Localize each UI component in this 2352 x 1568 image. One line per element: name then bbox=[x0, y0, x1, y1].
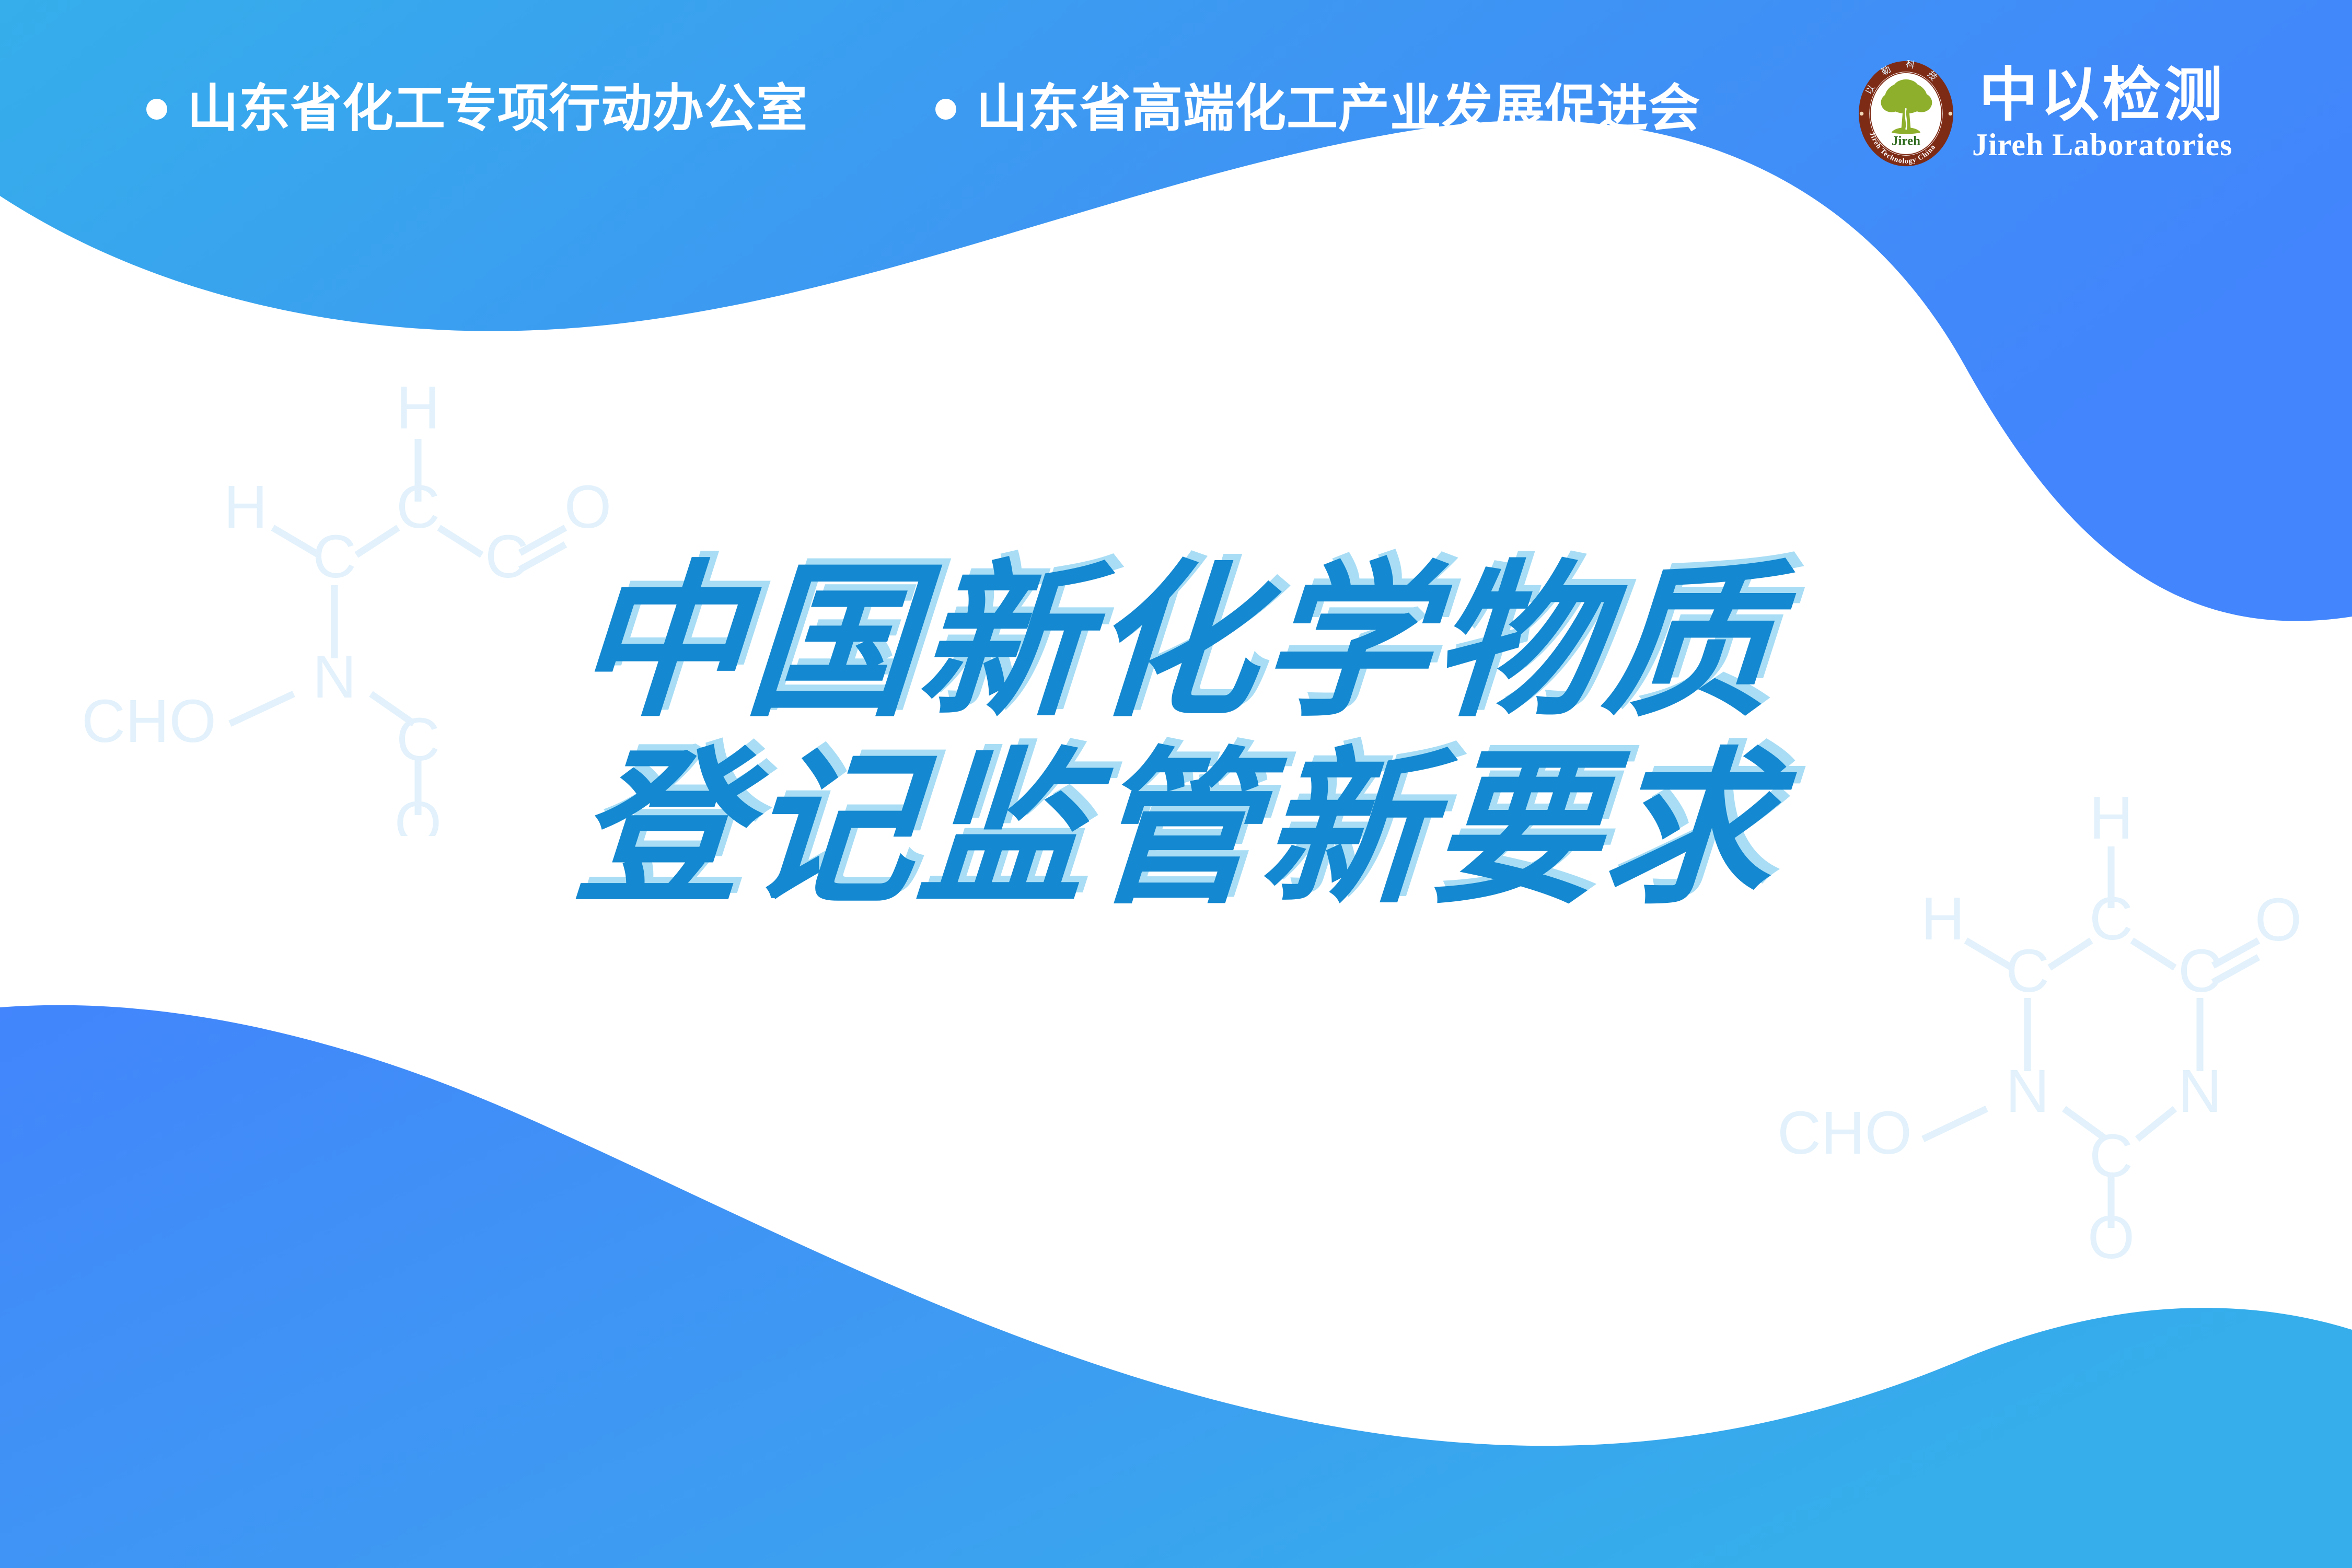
organization-label: 山东省化工专项行动办公室 bbox=[187, 84, 808, 135]
brand-name-en: Jireh Laboratories bbox=[1972, 127, 2233, 162]
brand-block: 以 勒 科 技 Jireh Technology China Jireh 中以检… bbox=[1858, 60, 2233, 167]
organization-item-2: 山东省高端化工产业发展促进会 bbox=[935, 84, 1700, 135]
brand-text: 中以检测 Jireh Laboratories bbox=[1972, 65, 2233, 161]
bullet-dot-icon bbox=[935, 99, 956, 120]
organization-label: 山东省高端化工产业发展促进会 bbox=[976, 84, 1700, 135]
bullet-dot-icon bbox=[146, 99, 167, 120]
brand-name-cn: 中以检测 bbox=[1979, 65, 2226, 125]
organization-item-1: 山东省化工专项行动办公室 bbox=[146, 84, 808, 135]
poster-canvas: 山东省化工专项行动办公室 山东省高端化工产业发展促进会 以 勒 科 技 Jire… bbox=[0, 0, 2352, 1568]
svg-text:Jireh: Jireh bbox=[1892, 134, 1920, 148]
background-waves bbox=[0, 0, 2352, 1568]
jireh-seal-logo-icon: 以 勒 科 技 Jireh Technology China Jireh bbox=[1858, 60, 1954, 167]
